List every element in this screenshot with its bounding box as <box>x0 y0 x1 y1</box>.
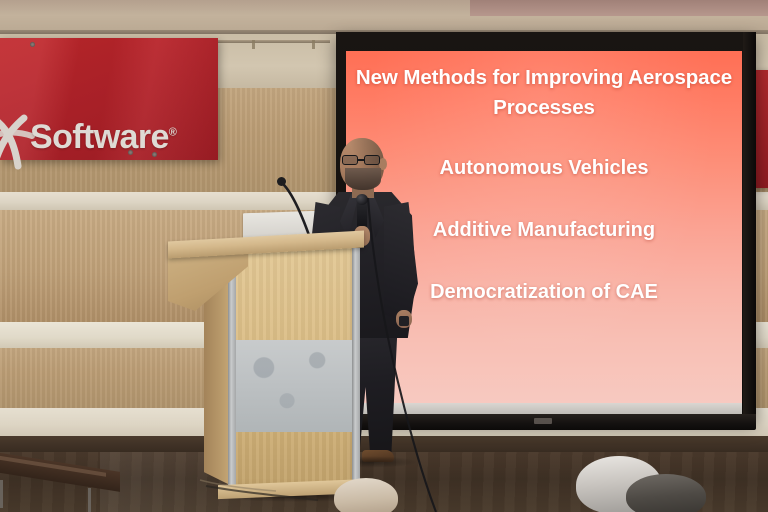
speaker-arm-right <box>384 202 418 322</box>
rail-hook <box>252 40 255 49</box>
podium-trim-left <box>228 248 236 488</box>
table-leg <box>88 488 91 512</box>
registered-trademark-icon: ® <box>169 127 177 139</box>
banner-text-label: Software <box>30 118 169 156</box>
podium-trim-right <box>352 248 360 488</box>
podium-gray-insert-panel <box>236 340 352 432</box>
banner-grommet <box>152 152 157 157</box>
microphone-grille <box>356 194 368 205</box>
rail-hook <box>312 40 315 49</box>
ceiling-color-band <box>470 0 768 16</box>
eyeglass-lens-right <box>364 155 380 165</box>
banner-grommet <box>30 42 35 47</box>
gooseneck-mic-capsule <box>277 177 286 186</box>
eyeglass-lens-left <box>342 155 358 165</box>
slide-title: New Methods for Improving Aerospace Proc… <box>346 63 742 123</box>
eyeglass-bridge <box>358 159 364 161</box>
foreground-table <box>0 462 120 512</box>
presentation-clicker-icon <box>399 316 409 326</box>
screen-brand-badge <box>534 418 552 424</box>
sponsor-banner-left: Software® <box>0 38 218 160</box>
eyeglasses-icon <box>342 155 384 165</box>
audience-head <box>334 478 398 512</box>
audience-head <box>626 474 706 512</box>
table-leg <box>0 480 3 508</box>
banner-grommet <box>128 150 133 155</box>
speaker-beard <box>345 168 381 190</box>
screen-frame-right-edge <box>743 32 756 420</box>
podium <box>200 236 362 498</box>
presentation-photo: Software® New Methods for Improving Aero… <box>0 0 768 512</box>
